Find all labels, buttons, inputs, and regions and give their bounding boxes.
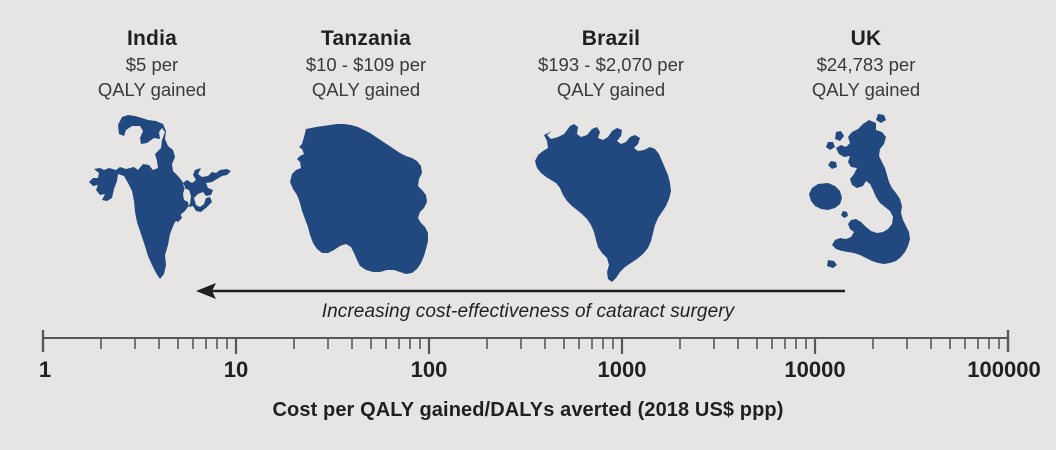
log-axis <box>0 330 1056 372</box>
country-name-uk: UK <box>751 26 981 52</box>
country-block-uk: UK $24,783 per QALY gained <box>751 26 981 102</box>
country-name-brazil: Brazil <box>496 26 726 52</box>
country-name-india: India <box>37 26 267 52</box>
axis-tick-label-100: 100 <box>411 357 448 383</box>
country-cost-line1-tanzania: $10 - $109 per <box>251 52 481 77</box>
country-cost-line1-india: $5 per <box>37 52 267 77</box>
uk-map-icon <box>806 112 930 288</box>
country-cost-line2-tanzania: QALY gained <box>251 77 481 102</box>
country-cost-line2-uk: QALY gained <box>751 77 981 102</box>
country-cost-line1-brazil: $193 - $2,070 per <box>496 52 726 77</box>
axis-tick-label-100000: 100000 <box>967 357 1040 383</box>
axis-tick-label-1: 1 <box>39 357 51 383</box>
arrow-caption: Increasing cost-effectiveness of catarac… <box>0 301 1056 323</box>
tanzania-map-icon <box>288 113 444 283</box>
india-map-icon <box>86 112 234 284</box>
axis-tick-label-10: 10 <box>224 357 248 383</box>
country-cost-line1-uk: $24,783 per <box>751 52 981 77</box>
infographic-canvas: India $5 per QALY gained Tanzania $10 - … <box>0 0 1056 450</box>
country-name-tanzania: Tanzania <box>251 26 481 52</box>
country-block-india: India $5 per QALY gained <box>37 26 267 102</box>
country-cost-line2-india: QALY gained <box>37 77 267 102</box>
axis-tick-label-10000: 10000 <box>784 357 845 383</box>
country-cost-line2-brazil: QALY gained <box>496 77 726 102</box>
axis-title: Cost per QALY gained/DALYs averted (2018… <box>0 399 1056 422</box>
country-block-brazil: Brazil $193 - $2,070 per QALY gained <box>496 26 726 102</box>
axis-tick-label-1000: 1000 <box>598 357 647 383</box>
country-block-tanzania: Tanzania $10 - $109 per QALY gained <box>251 26 481 102</box>
brazil-map-icon <box>522 113 680 285</box>
